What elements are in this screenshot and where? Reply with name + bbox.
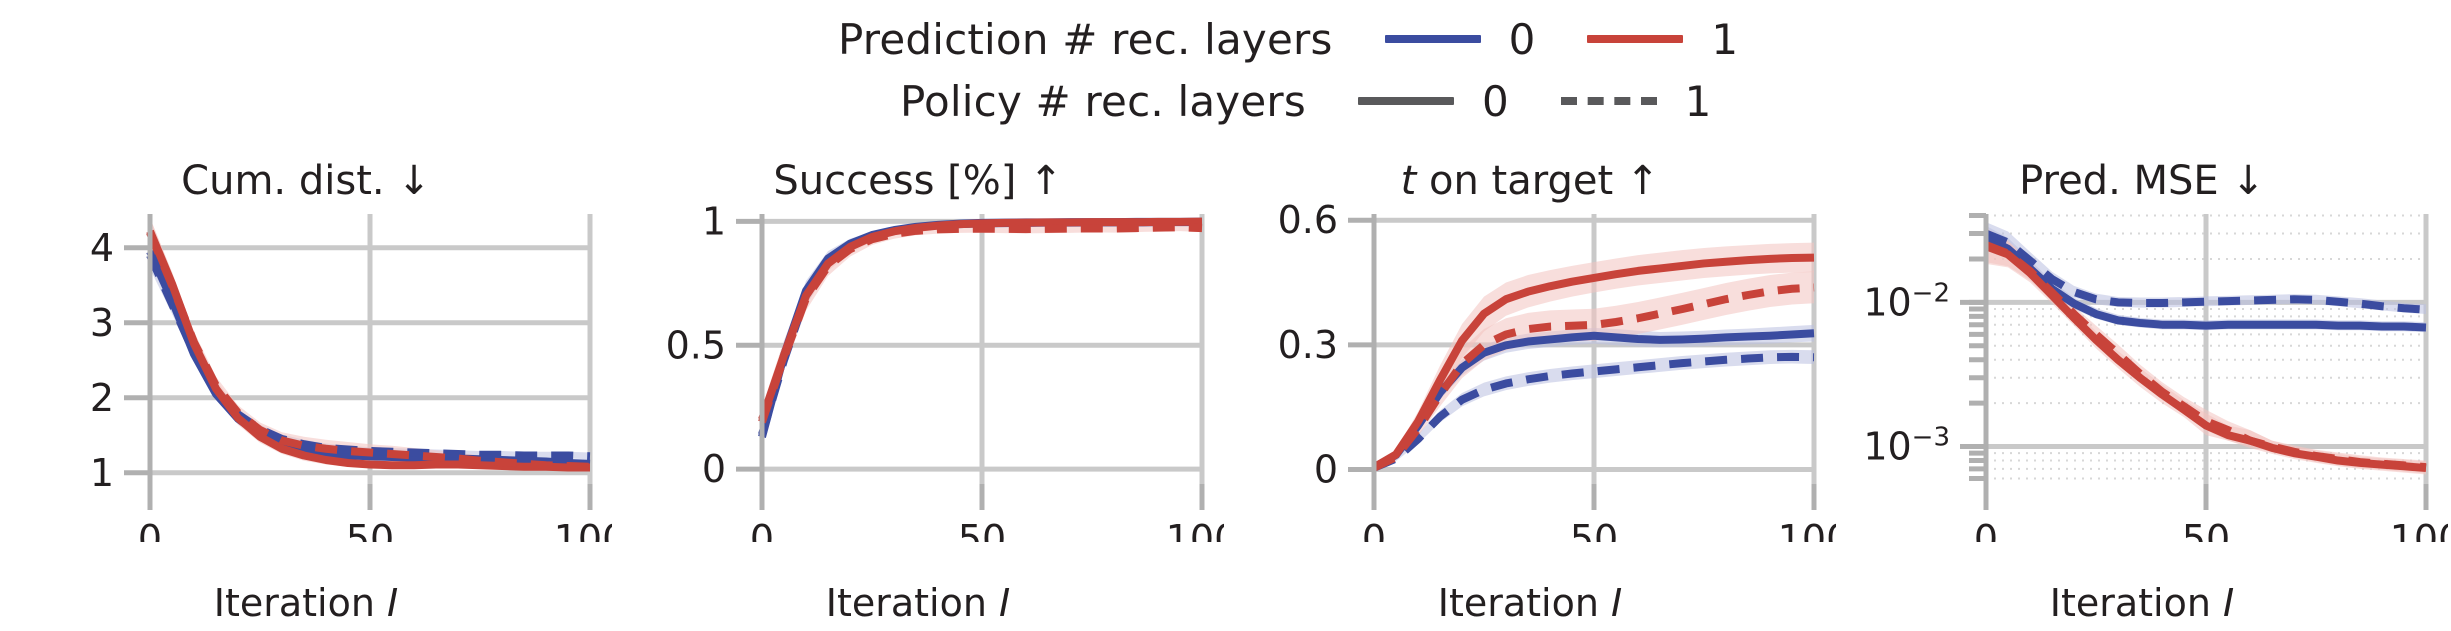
legend-entry-label: 1 xyxy=(1711,15,1738,64)
subplot-title: t on target ↑ xyxy=(1224,158,1836,204)
y-tick-label: 0 xyxy=(1314,447,1338,491)
plot-area: 10−210−3050100 xyxy=(1836,202,2448,542)
x-axis-label: Iteration I xyxy=(0,581,612,625)
legend-line-swatch-icon xyxy=(1561,97,1657,105)
legend-group-title: Policy # rec. layers xyxy=(900,77,1306,126)
subplot-title: Pred. MSE ↓ xyxy=(1836,158,2448,204)
legend-entry[interactable]: 0 xyxy=(1358,77,1509,126)
subplot-title: Cum. dist. ↓ xyxy=(0,158,612,204)
y-tick-label: 3 xyxy=(90,301,114,345)
y-tick-label: 0 xyxy=(702,447,726,491)
legend-line-swatch-icon xyxy=(1358,97,1454,105)
legend-line-swatch-icon xyxy=(1385,35,1481,43)
x-tick-label: 0 xyxy=(750,517,774,542)
x-tick-label: 50 xyxy=(958,517,1006,542)
plot-area: 1234050100 xyxy=(0,202,612,542)
x-tick-label: 50 xyxy=(346,517,394,542)
subplot-grid: Cum. dist. ↓1234050100Iteration ISuccess… xyxy=(0,150,2451,631)
legend-row-prediction: Prediction # rec. layers01 xyxy=(0,8,2451,70)
subplot-2: Success [%] ↑00.51050100Iteration I xyxy=(612,150,1224,631)
legend-entry[interactable]: 1 xyxy=(1587,15,1738,64)
legend-entry-label: 1 xyxy=(1685,77,1712,126)
legend-row-policy: Policy # rec. layers01 xyxy=(0,70,2451,132)
subplot-3: t on target ↑00.30.6050100Iteration I xyxy=(1224,150,1836,631)
legend-entry-label: 0 xyxy=(1509,15,1536,64)
legend-entry-label: 0 xyxy=(1482,77,1509,126)
figure-legend: Prediction # rec. layers01Policy # rec. … xyxy=(0,8,2451,158)
legend-group-title: Prediction # rec. layers xyxy=(838,15,1333,64)
legend-line-swatch-icon xyxy=(1587,35,1683,43)
subplot-title: Success [%] ↑ xyxy=(612,158,1224,204)
x-tick-label: 0 xyxy=(1974,517,1998,542)
y-tick-label: 0.5 xyxy=(666,323,726,367)
plot-area: 00.51050100 xyxy=(612,202,1224,542)
y-tick-label: 1 xyxy=(702,202,726,243)
y-tick-label: 10−2 xyxy=(1863,278,1950,324)
x-tick-label: 100 xyxy=(554,517,612,542)
x-tick-label: 100 xyxy=(2390,517,2448,542)
subplot-4: Pred. MSE ↓10−210−3050100Iteration I xyxy=(1836,150,2448,631)
x-tick-label: 100 xyxy=(1778,517,1836,542)
x-axis-label: Iteration I xyxy=(1836,581,2448,625)
y-tick-label: 10−3 xyxy=(1863,423,1950,469)
y-tick-label: 4 xyxy=(90,226,114,270)
figure-root: Prediction # rec. layers01Policy # rec. … xyxy=(0,0,2451,631)
y-tick-label: 1 xyxy=(90,451,114,495)
x-axis-label: Iteration I xyxy=(1224,581,1836,625)
subplot-1: Cum. dist. ↓1234050100Iteration I xyxy=(0,150,612,631)
x-tick-label: 50 xyxy=(2182,517,2230,542)
x-tick-label: 0 xyxy=(138,517,162,542)
x-tick-label: 0 xyxy=(1362,517,1386,542)
x-tick-label: 50 xyxy=(1570,517,1618,542)
x-tick-label: 100 xyxy=(1166,517,1224,542)
y-tick-label: 2 xyxy=(90,376,114,420)
y-tick-label: 0.6 xyxy=(1278,202,1338,242)
x-axis-label: Iteration I xyxy=(612,581,1224,625)
plot-area: 00.30.6050100 xyxy=(1224,202,1836,542)
legend-entry[interactable]: 1 xyxy=(1561,77,1712,126)
y-tick-label: 0.3 xyxy=(1278,323,1338,367)
legend-entry[interactable]: 0 xyxy=(1385,15,1536,64)
